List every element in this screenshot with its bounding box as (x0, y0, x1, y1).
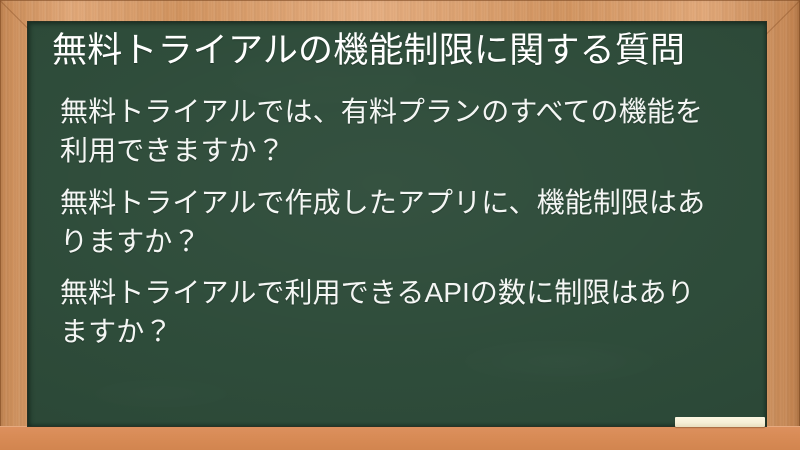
board-content: 無料トライアルの機能制限に関する質問 無料トライアルでは、有料プランのすべての機… (28, 22, 766, 351)
list-item: 無料トライアルで利用できるAPIの数に制限はありますか？ (60, 273, 722, 351)
chalk-stick (675, 417, 765, 427)
chalk-ledge (0, 426, 800, 450)
page-title: 無料トライアルの機能制限に関する質問 (46, 22, 752, 74)
question-list: 無料トライアルでは、有料プランのすべての機能を利用できますか？ 無料トライアルで… (46, 92, 752, 351)
chalkboard-surface: 無料トライアルの機能制限に関する質問 無料トライアルでは、有料プランのすべての機… (28, 22, 766, 426)
list-item: 無料トライアルで作成したアプリに、機能制限はありますか？ (60, 183, 722, 261)
list-item: 無料トライアルでは、有料プランのすべての機能を利用できますか？ (60, 92, 722, 170)
chalkboard-slide: 無料トライアルの機能制限に関する質問 無料トライアルでは、有料プランのすべての機… (0, 0, 800, 450)
